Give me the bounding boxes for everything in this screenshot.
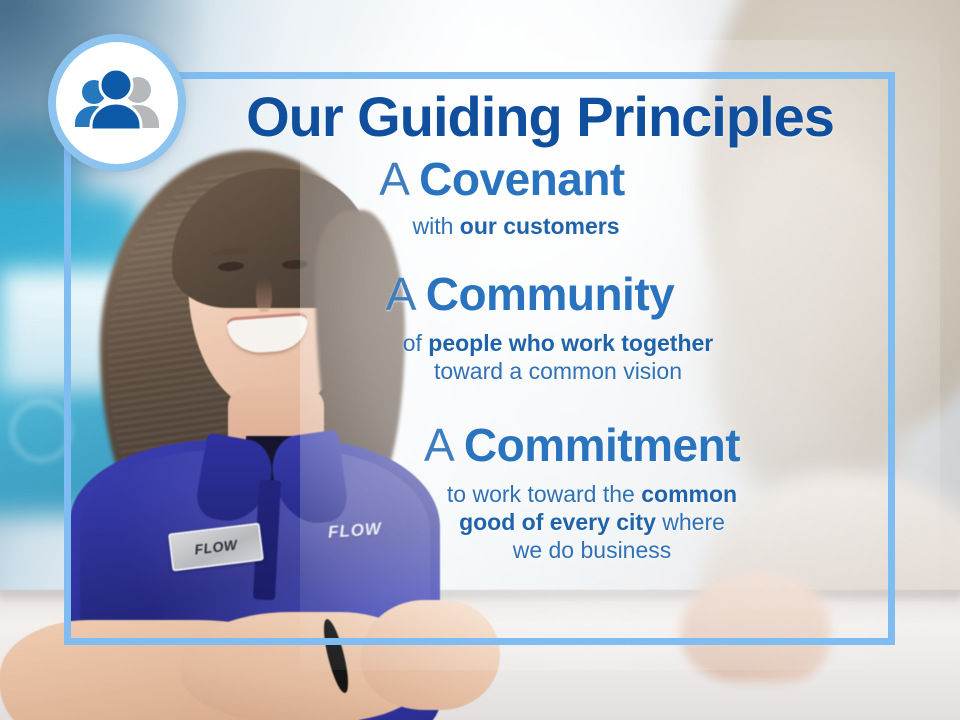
principle-commitment-subtitle: to work toward the common good of every … <box>252 480 932 564</box>
community-sub-line-2: toward a common vision <box>218 357 898 385</box>
principle-community-subtitle: of people who work together toward a com… <box>218 329 898 385</box>
principle-covenant-subtitle: with our customers <box>176 212 856 240</box>
people-group-icon <box>69 70 165 136</box>
principle-covenant: A Covenant with our customers <box>200 155 880 240</box>
commitment-sub-line-3: we do business <box>252 536 932 564</box>
commitment-sub-plain-1: to work toward the <box>447 481 641 507</box>
page-title: Our Guiding Principles <box>200 88 880 145</box>
covenant-sub-plain: with <box>412 213 459 239</box>
commitment-sub-bold-2: good of every city <box>459 509 656 535</box>
people-badge <box>48 34 186 172</box>
principle-commitment-article: A <box>424 419 452 471</box>
principle-covenant-article: A <box>379 153 407 205</box>
community-sub-plain: of <box>403 330 429 356</box>
principle-community-article: A <box>386 268 414 320</box>
principle-commitment-keyword: Commitment <box>464 419 740 471</box>
commitment-sub-line-1: to work toward the common <box>252 480 932 508</box>
commitment-sub-line-2: good of every city where <box>252 508 932 536</box>
commitment-sub-plain-2: where <box>656 509 725 535</box>
poster-canvas: FLOW FLOW Our Guiding Principles A <box>0 0 960 720</box>
community-sub-bold: people who work together <box>428 330 713 356</box>
principle-commitment: A Commitment to work toward the common g… <box>200 421 880 564</box>
poster-copy: Our Guiding Principles A Covenant with o… <box>200 88 880 564</box>
community-sub-line-1: of people who work together <box>218 329 898 357</box>
principle-community-title: A Community <box>190 270 870 319</box>
commitment-sub-bold-1: common <box>641 481 737 507</box>
covenant-sub-bold: our customers <box>460 213 620 239</box>
principle-community: A Community of people who work together … <box>200 270 880 385</box>
principle-community-keyword: Community <box>426 268 675 320</box>
principle-covenant-keyword: Covenant <box>419 153 625 205</box>
principle-covenant-title: A Covenant <box>162 155 842 204</box>
principle-commitment-title: A Commitment <box>242 421 922 470</box>
saleswoman-hands <box>360 600 500 710</box>
customer-hand <box>680 572 830 682</box>
